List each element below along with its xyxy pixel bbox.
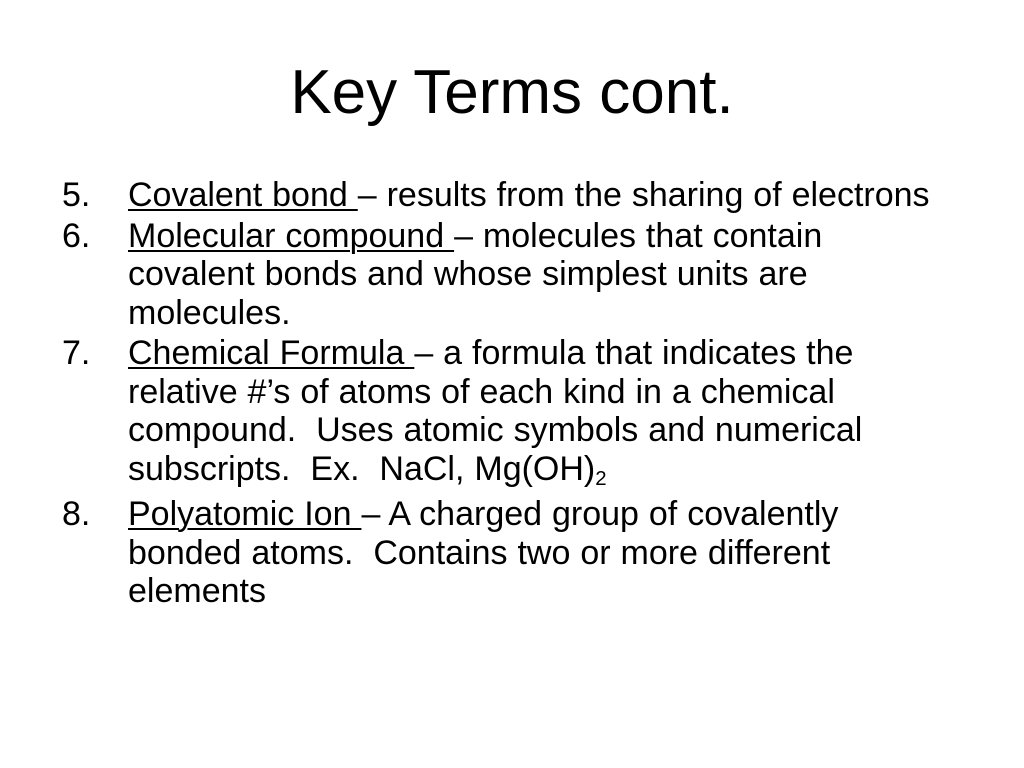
slide-canvas: Key Terms cont. 5. Covalent bond – resul… <box>0 0 1024 768</box>
term-name: Molecular compound <box>128 217 454 255</box>
list-item: 7. Chemical Formula – a formula that ind… <box>56 334 956 493</box>
list-item: 6. Molecular compound – molecules that c… <box>56 217 956 333</box>
term-name: Polyatomic Ion <box>128 495 361 533</box>
key-terms-list: 5. Covalent bond – results from the shar… <box>56 176 956 613</box>
list-item-text: Polyatomic Ion – A charged group of cova… <box>128 495 946 611</box>
list-item: 8. Polyatomic Ion – A charged group of c… <box>56 495 956 611</box>
list-item-text: Covalent bond – results from the sharing… <box>128 176 946 215</box>
list-item-text: Chemical Formula – a formula that indica… <box>128 334 946 493</box>
list-item-number: 6. <box>56 217 128 256</box>
list-item-number: 5. <box>56 176 128 215</box>
chemical-subscript: 2 <box>595 468 606 490</box>
term-name: Chemical Formula <box>128 334 414 372</box>
list-item-number: 8. <box>56 495 128 534</box>
list-item-text: Molecular compound – molecules that cont… <box>128 217 946 333</box>
list-item-number: 7. <box>56 334 128 373</box>
term-name: Covalent bond <box>128 176 358 214</box>
page-title: Key Terms cont. <box>0 58 1024 128</box>
term-definition: – results from the sharing of electrons <box>358 176 930 214</box>
list-item: 5. Covalent bond – results from the shar… <box>56 176 956 215</box>
